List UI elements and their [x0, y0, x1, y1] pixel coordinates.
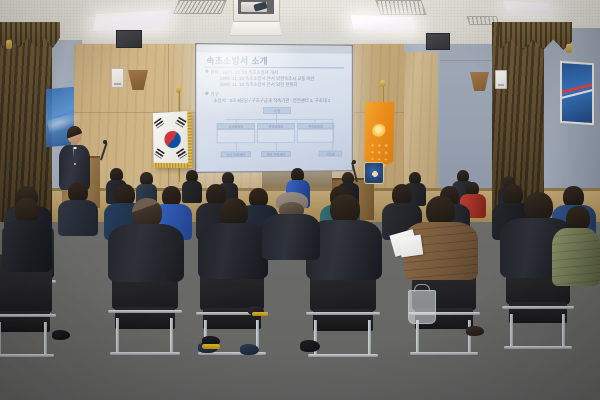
chair-leg [116, 318, 119, 352]
shoe-right [240, 344, 259, 355]
org-sub-1 [257, 129, 295, 143]
slide-top-band [196, 44, 352, 54]
chair-armrest [108, 310, 182, 313]
ceiling-speaker-right-icon [426, 33, 450, 50]
attendee-dark-jacket [2, 220, 52, 272]
slide-bullet-text-4: 소방서 : 3과 9담당 / 구조구급과 직속기관 : 안전센터 2, 구조대 … [214, 98, 331, 103]
lecture-hall-photo: 속초소방서 소개 연혁 : 1973. 12. 28 속초소방서 개서 1998… [0, 0, 600, 400]
shoe-far-left [52, 330, 70, 340]
org-bottom-0: 속초 안전센터 [221, 151, 251, 157]
flagpole-finial-korean [176, 86, 181, 93]
org-line-side [332, 119, 333, 151]
attendee-flat-cap [262, 192, 320, 258]
attendee-dark-jacket [108, 224, 184, 282]
plastic-bag-on-floor[interactable] [408, 290, 436, 324]
ceiling-projector-icon [238, 0, 274, 14]
attendee-front-1 [108, 198, 184, 280]
chair-armrest [0, 314, 56, 317]
chair-skid [0, 354, 54, 357]
bullet-marker-3 [205, 91, 208, 94]
chair-leg [0, 322, 1, 354]
attendee-body [58, 200, 98, 236]
org-line-b2 [276, 143, 277, 151]
slide-bullet-text-3: 기구 [210, 91, 218, 96]
microphone-head-left [103, 140, 107, 144]
chair-skid [110, 352, 180, 355]
projection-screen: 속초소방서 소개 연혁 : 1973. 12. 28 속초소방서 개서 1998… [196, 44, 352, 172]
chair-leg [170, 318, 173, 352]
chair-leg [562, 314, 565, 346]
slide-bullet-4: 소방서 : 3과 9담당 / 구조구급과 직속기관 : 안전센터 2, 구조대 … [205, 98, 347, 104]
slide-title: 속초소방서 소개 [206, 54, 268, 67]
microphone-head-right [352, 160, 356, 164]
ceiling-light-panel-right [351, 15, 416, 31]
korean-national-flag [153, 111, 192, 169]
podium-emblem [364, 162, 384, 184]
slide-bullet-text-1: 1998. 11. 28 속초소방서 본서 외현속초시 교동 이전 [220, 76, 315, 81]
slide-bullet-text-0: 연혁 : 1973. 12. 28 속초소방서 개서 [210, 70, 277, 75]
chair-leg [44, 322, 47, 354]
shoe-yellow-sole-2 [252, 312, 268, 316]
org-root: 서 장 [263, 107, 291, 114]
chair-skid [410, 352, 478, 355]
slide-bullet-2: 2008. 11. 18 속초소방서 본서 외현 현위치 [205, 82, 347, 89]
wall-control-box-left-icon[interactable] [111, 68, 124, 88]
chair-leg [416, 320, 419, 352]
attendee-front-2 [198, 198, 268, 278]
org-sub-2 [297, 129, 334, 143]
taeguk-symbol [161, 128, 184, 152]
org-side-0: 구조대 [319, 151, 343, 157]
projector-mount-skirt [230, 21, 282, 36]
chair-armrest [306, 312, 380, 315]
trigram-geon [154, 118, 165, 129]
org-sub-0 [217, 129, 255, 143]
bullet-marker-0 [205, 70, 208, 73]
org-bottom-1: 청호 안전센터 [261, 151, 291, 157]
curtain-tassel-right [566, 44, 572, 53]
trigram-gon [176, 148, 187, 159]
presenter [58, 126, 92, 190]
slide-bullet-list: 연혁 : 1973. 12. 28 속초소방서 개서 1998. 11. 28 … [205, 70, 347, 105]
organization-flag [364, 102, 394, 171]
trigram-ri [154, 148, 164, 159]
ceiling-speaker-left-icon [116, 30, 142, 48]
chair-leg [368, 320, 371, 354]
attendee-olive-jacket-body [552, 228, 600, 286]
attendee-dark-jacket [198, 223, 268, 279]
shoe-yellow-sole [202, 344, 220, 349]
chair-skid [308, 354, 378, 357]
chair-leg [510, 314, 513, 346]
plastic-bag-handle [414, 284, 430, 292]
presenter-necktie [74, 149, 77, 163]
attendee-body [262, 214, 320, 260]
slide-org-chart: 서 장 소방행정과 방호예방과 현장대응과 속초 안전센터 청호 안전센터 구조… [210, 107, 342, 164]
org-line-b1 [236, 143, 237, 151]
org-line-horizontal [225, 119, 333, 120]
chair-skid [504, 346, 572, 349]
trigram-gam [175, 117, 186, 128]
attendee-front-0 [2, 198, 52, 270]
slide-bullet-text-2: 2008. 11. 18 속초소방서 본서 외현 현위치 [220, 82, 298, 87]
ceiling-vent-left [173, 0, 227, 14]
floor-accent-band-4 [477, 352, 600, 400]
flagpole-finial-organization [380, 80, 385, 87]
chair-leg [468, 320, 471, 352]
slide-title-rule [204, 67, 344, 69]
attendee-mid-left-2 [58, 182, 98, 234]
attendee-olive-jacket [552, 206, 600, 284]
ceiling-vent-right [375, 0, 426, 15]
chair-armrest [502, 306, 574, 309]
wall-control-box-right-icon[interactable] [495, 70, 507, 89]
shoe-brown [466, 326, 484, 336]
poster-right [560, 61, 594, 125]
organization-flag-pattern [369, 142, 389, 161]
shoe-dark [300, 340, 320, 352]
organization-flag-emblem [372, 124, 386, 138]
curtain-tassel-left [6, 40, 12, 49]
flag-fringe-bottom-korean [154, 163, 193, 169]
handout-papers-2[interactable] [399, 235, 424, 258]
